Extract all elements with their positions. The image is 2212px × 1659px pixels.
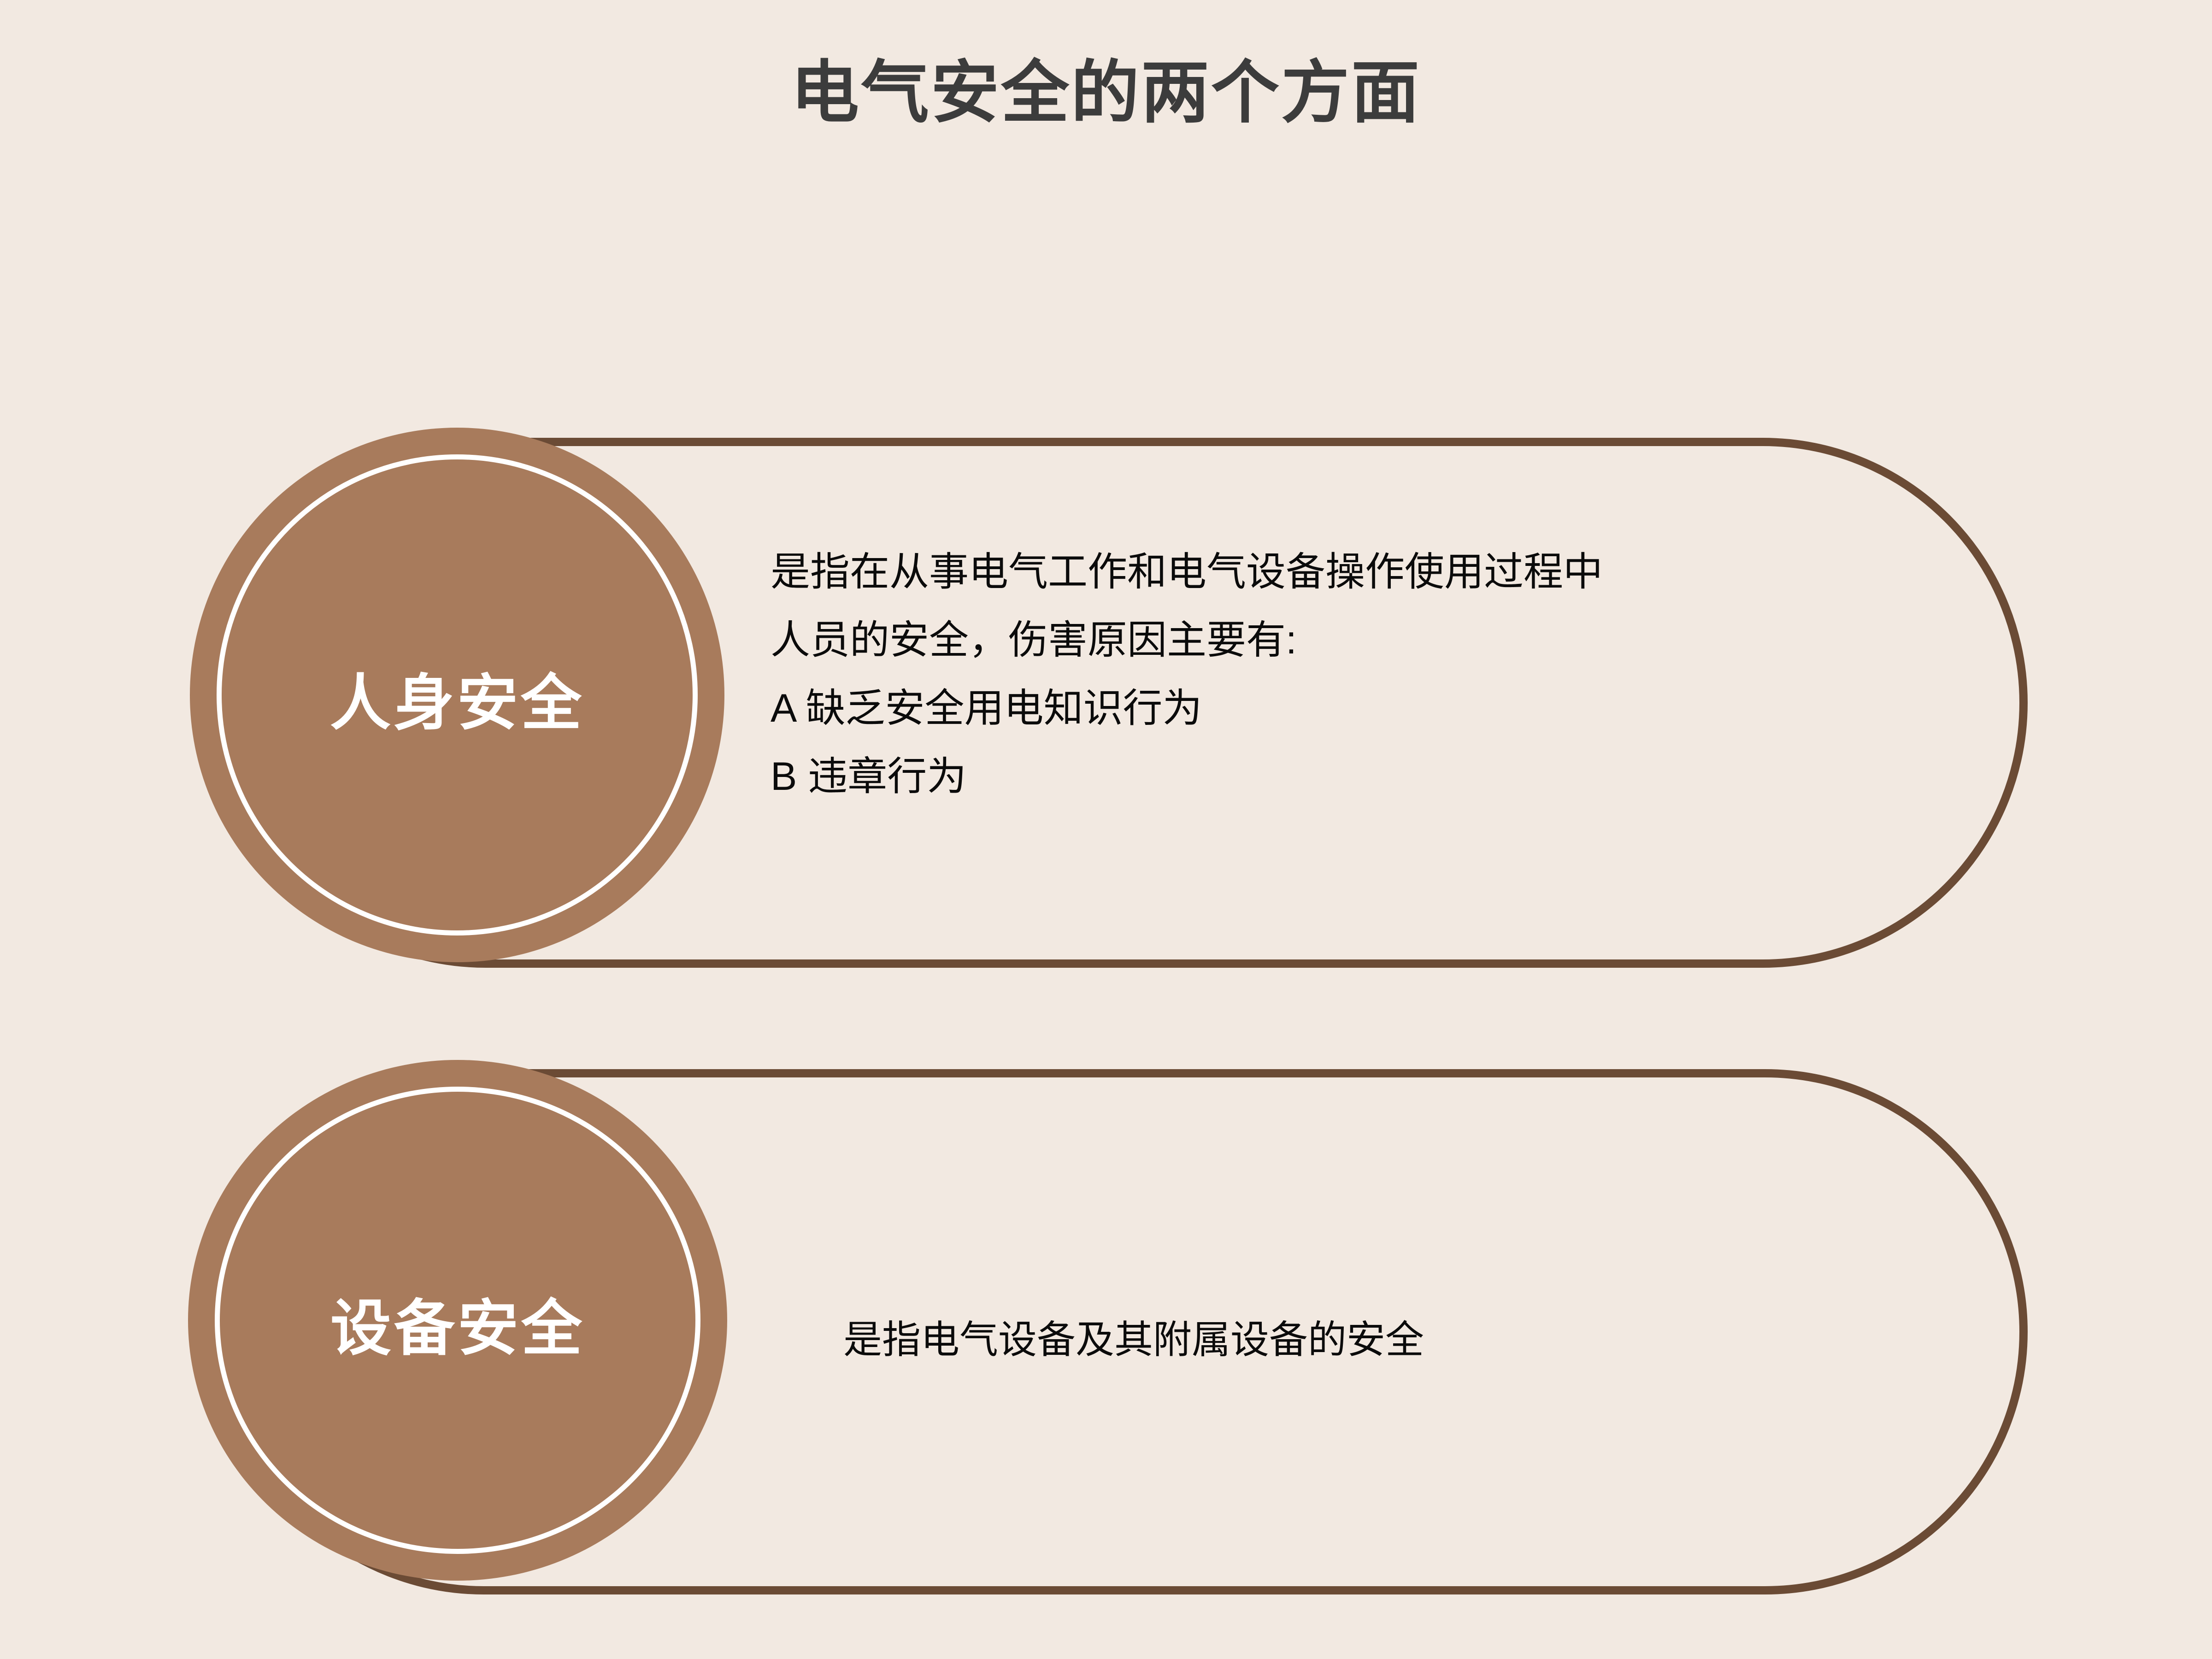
body-line: B 违章行为 <box>771 743 1603 811</box>
page-title: 电气安全的两个方面 <box>0 59 2212 127</box>
body-line: 是指在从事电气工作和电气设备操作使用过程中 <box>771 538 1603 606</box>
body-line: 是指电气设备及其附属设备的安全 <box>843 1306 1424 1373</box>
body-line: A 缺乏安全用电知识行为 <box>771 675 1603 743</box>
body-line: 人员的安全，伤害原因主要有: <box>771 606 1603 675</box>
body-text-personal-safety: 是指在从事电气工作和电气设备操作使用过程中 人员的安全，伤害原因主要有: A 缺… <box>771 538 1603 811</box>
slide-canvas: 电气安全的两个方面 人身安全 是指在从事电气工作和电气设备操作使用过程中 人员的… <box>0 0 2212 1659</box>
badge-circle-equipment-safety[interactable]: 设备安全 <box>188 1060 727 1581</box>
badge-circle-personal-safety[interactable]: 人身安全 <box>190 428 724 962</box>
badge-label-equipment-safety: 设备安全 <box>330 1298 585 1359</box>
body-text-equipment-safety: 是指电气设备及其附属设备的安全 <box>843 1306 1424 1373</box>
badge-label-personal-safety: 人身安全 <box>330 673 584 734</box>
